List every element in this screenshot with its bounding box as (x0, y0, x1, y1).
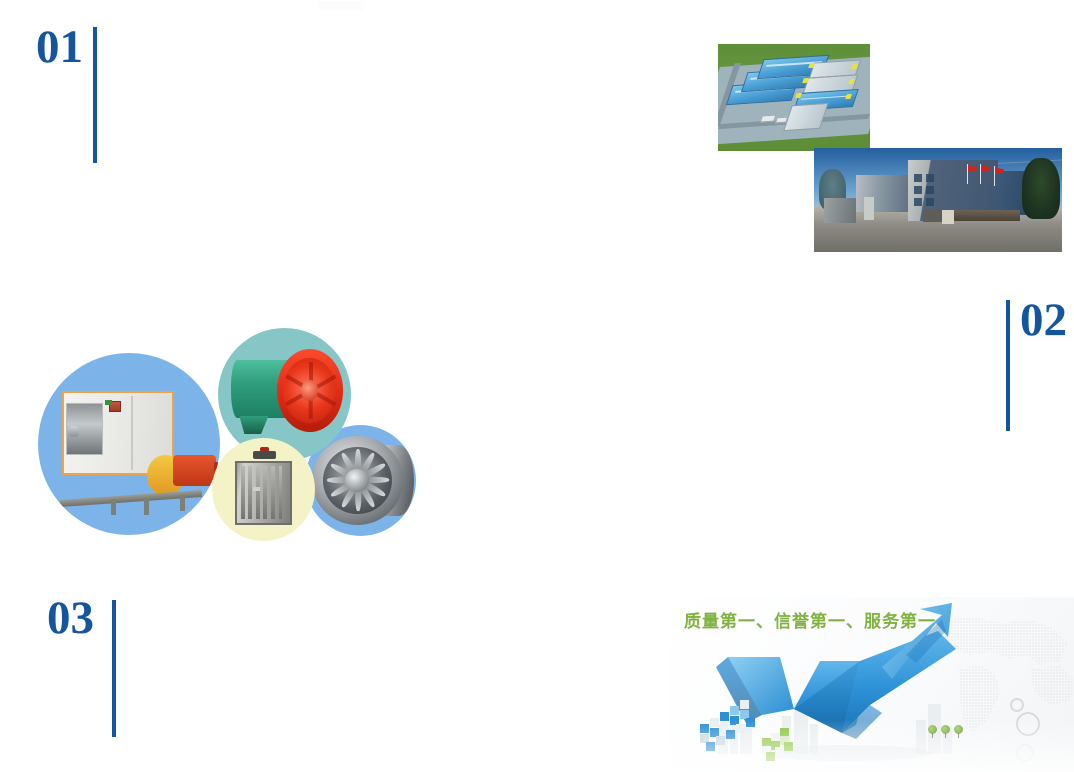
box-fan-indicator (105, 400, 112, 405)
box-fan-leg-2 (144, 499, 149, 515)
box-fan-motor (173, 455, 217, 486)
axial-fan-inlet (283, 358, 336, 424)
damper-frame (235, 461, 293, 525)
silver-fan-inner (323, 447, 392, 514)
damper-label (253, 487, 260, 492)
axial-fan-ring (277, 349, 344, 431)
decor-ring-small (1010, 698, 1024, 712)
circle-axial-fan (218, 328, 351, 461)
growth-arrow-slogan-banner: 质量第一、信誉第一、服务第一 (670, 597, 1074, 772)
axial-fan-foot (239, 416, 268, 435)
circle-fire-damper (212, 438, 315, 541)
silver-fan-shroud (312, 436, 403, 525)
silver-fan-hub (345, 469, 369, 492)
box-fan-wheel (68, 426, 79, 437)
box-fan-leg-1 (111, 499, 116, 515)
slogan-text: 质量第一、信誉第一、服务第一 (684, 607, 936, 632)
box-fan-inlet (66, 403, 103, 456)
box-fan-leg-3 (180, 495, 185, 511)
circle-box-fan (38, 353, 220, 535)
axial-fan-hub (301, 380, 318, 401)
damper-actuator (253, 451, 276, 458)
banner-reflection (670, 720, 1074, 772)
